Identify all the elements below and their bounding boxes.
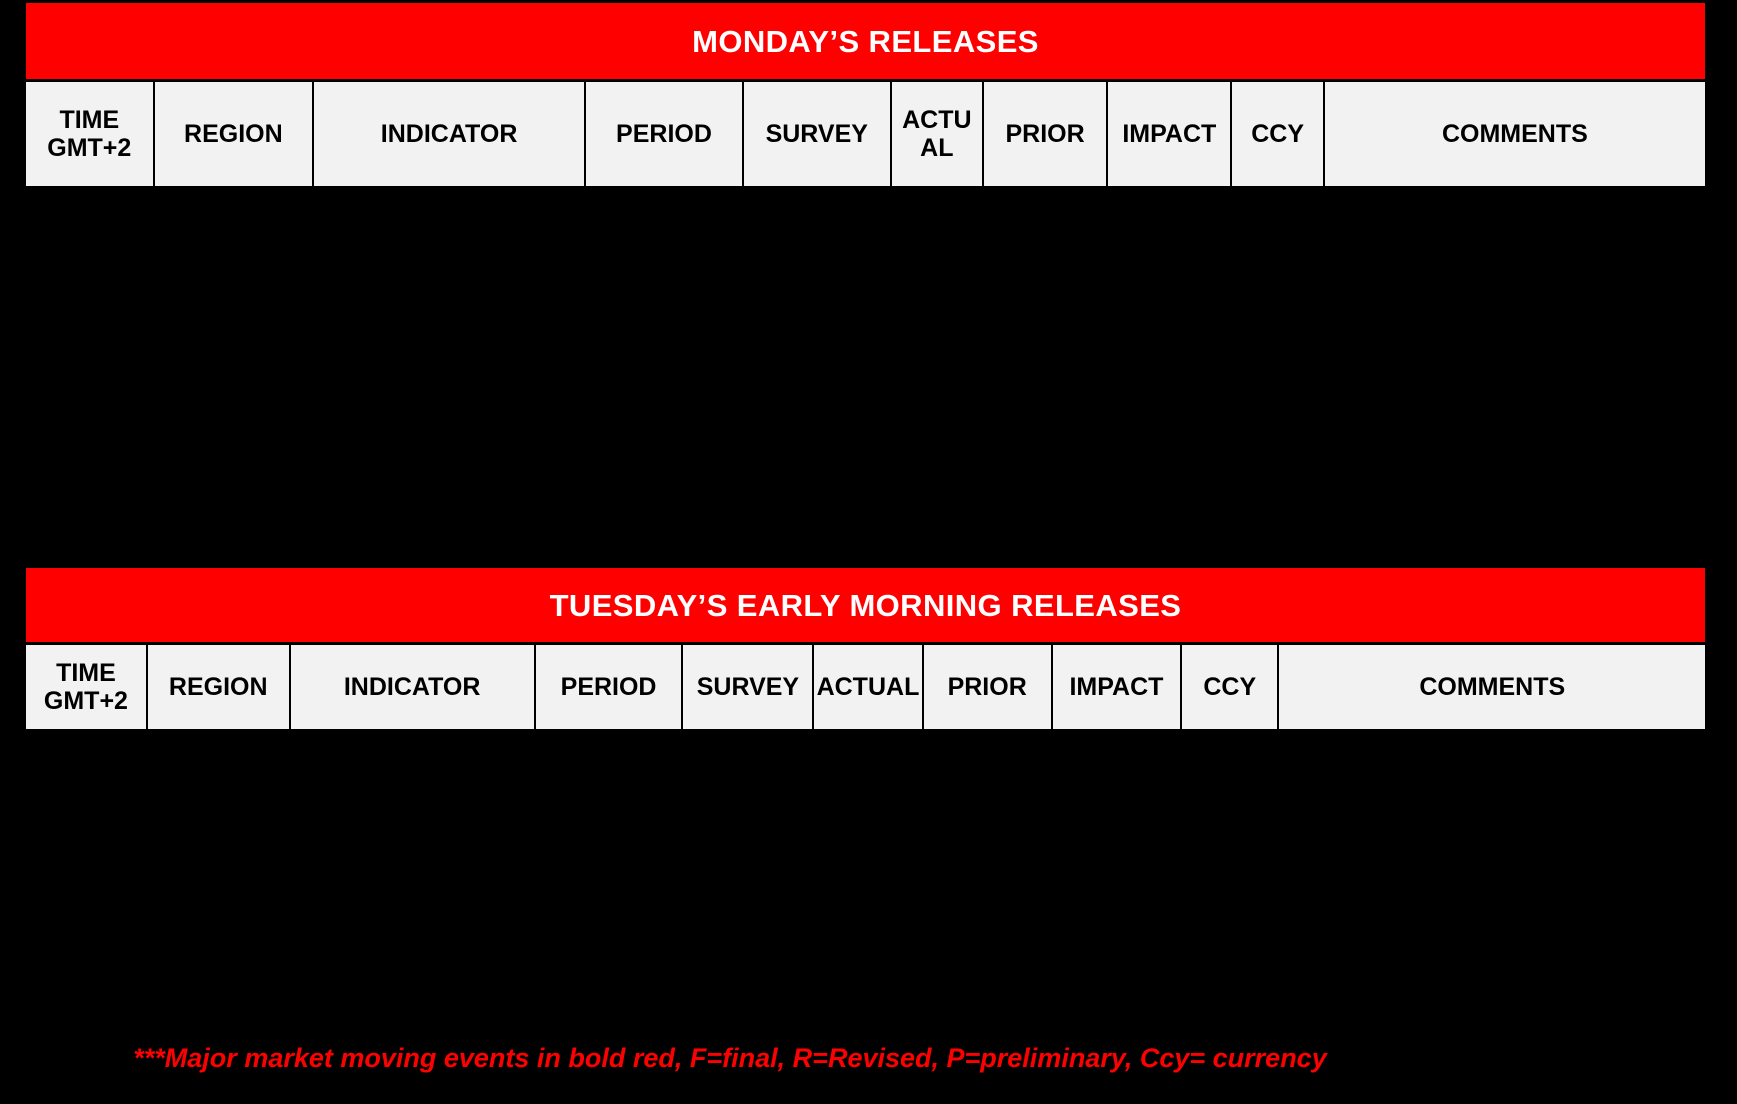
monday-col-impact: IMPACT — [1107, 81, 1231, 188]
monday-col-time: TIME GMT+2 — [26, 81, 154, 188]
tuesday-col-period: PERIOD — [535, 644, 683, 731]
tuesday-col-impact: IMPACT — [1052, 644, 1181, 731]
monday-title-band: MONDAY’S RELEASES — [26, 3, 1705, 81]
monday-col-period: PERIOD — [585, 81, 743, 188]
tuesday-col-comments: COMMENTS — [1278, 644, 1705, 731]
tuesday-col-prior: PRIOR — [923, 644, 1052, 731]
tuesday-releases-table: TUESDAY’S EARLY MORNING RELEASES TIME GM… — [26, 568, 1705, 732]
tuesday-col-survey: SURVEY — [682, 644, 813, 731]
tuesday-title-band: TUESDAY’S EARLY MORNING RELEASES — [26, 568, 1705, 644]
monday-col-region: REGION — [154, 81, 314, 188]
legend-note: ***Major market moving events in bold re… — [0, 1044, 1460, 1074]
tuesday-col-time: TIME GMT+2 — [26, 644, 147, 731]
monday-col-ccy: CCY — [1231, 81, 1323, 188]
tuesday-col-ccy: CCY — [1181, 644, 1278, 731]
tuesday-header-row: TIME GMT+2 REGION INDICATOR PERIOD SURVE… — [26, 644, 1705, 731]
monday-releases-table: MONDAY’S RELEASES TIME GMT+2 REGION INDI… — [26, 3, 1705, 189]
tuesday-col-actual: ACTUAL — [813, 644, 922, 731]
monday-col-indicator: INDICATOR — [313, 81, 585, 188]
monday-title-row: MONDAY’S RELEASES — [26, 3, 1705, 81]
monday-col-comments: COMMENTS — [1324, 81, 1705, 188]
monday-col-prior: PRIOR — [983, 81, 1107, 188]
monday-title-text: MONDAY’S RELEASES — [26, 26, 1705, 57]
page-canvas: MONDAY’S RELEASES TIME GMT+2 REGION INDI… — [0, 0, 1737, 1104]
tuesday-title-row: TUESDAY’S EARLY MORNING RELEASES — [26, 568, 1705, 644]
monday-header-row: TIME GMT+2 REGION INDICATOR PERIOD SURVE… — [26, 81, 1705, 188]
monday-col-actual: ACTUAL — [891, 81, 983, 188]
monday-col-survey: SURVEY — [743, 81, 891, 188]
tuesday-col-region: REGION — [147, 644, 290, 731]
tuesday-col-indicator: INDICATOR — [290, 644, 535, 731]
tuesday-title-text: TUESDAY’S EARLY MORNING RELEASES — [26, 590, 1705, 621]
